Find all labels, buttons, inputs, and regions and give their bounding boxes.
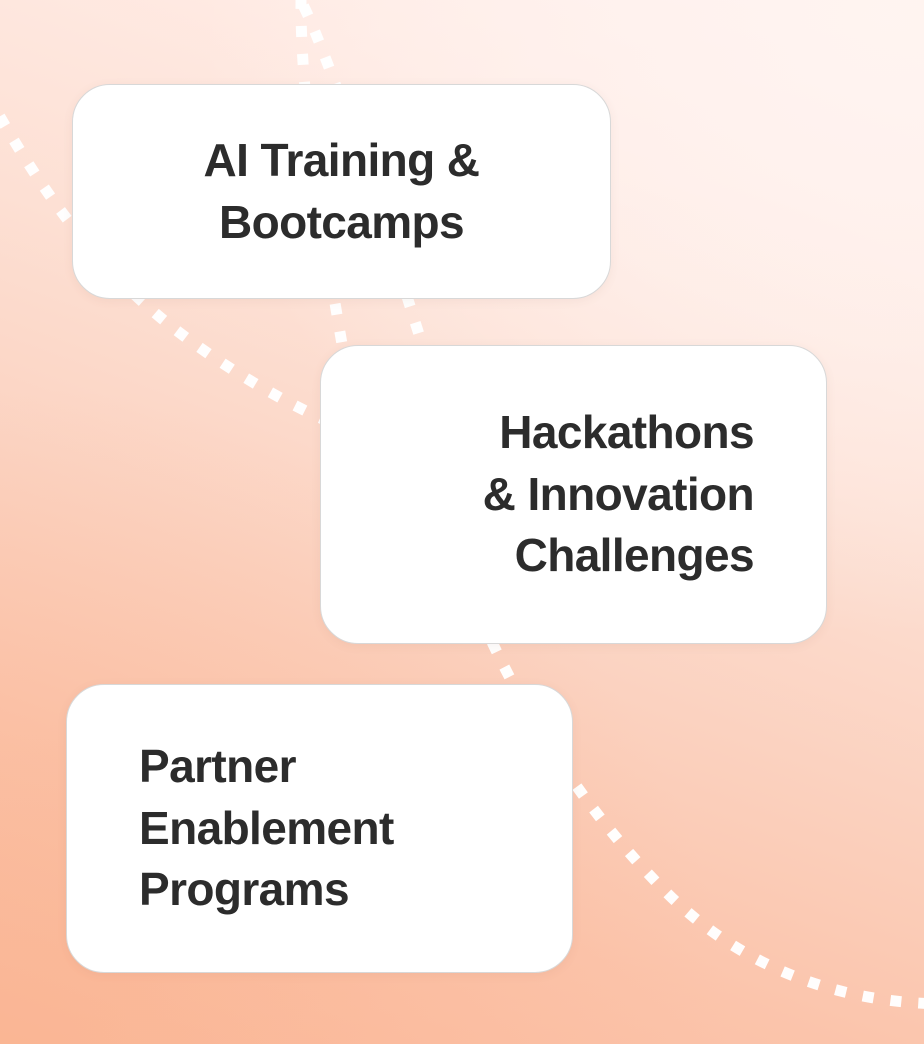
card-title-line: Bootcamps <box>219 192 464 254</box>
card-title-line: AI Training & <box>204 130 480 192</box>
card-title-line: & Innovation <box>483 464 754 526</box>
card-title-line: Hackathons <box>499 402 754 464</box>
card-ai-training-bootcamps[interactable]: AI Training & Bootcamps <box>72 84 611 299</box>
card-hackathons-innovation-challenges[interactable]: Hackathons & Innovation Challenges <box>320 345 827 644</box>
card-partner-enablement-programs[interactable]: Partner Enablement Programs <box>66 684 573 973</box>
card-title-line: Enablement <box>139 798 394 860</box>
capability-cards-canvas: AI Training & Bootcamps Hackathons & Inn… <box>0 0 924 1044</box>
card-title-line: Partner <box>139 736 296 798</box>
card-title-line: Challenges <box>515 525 754 587</box>
card-title-line: Programs <box>139 859 349 921</box>
